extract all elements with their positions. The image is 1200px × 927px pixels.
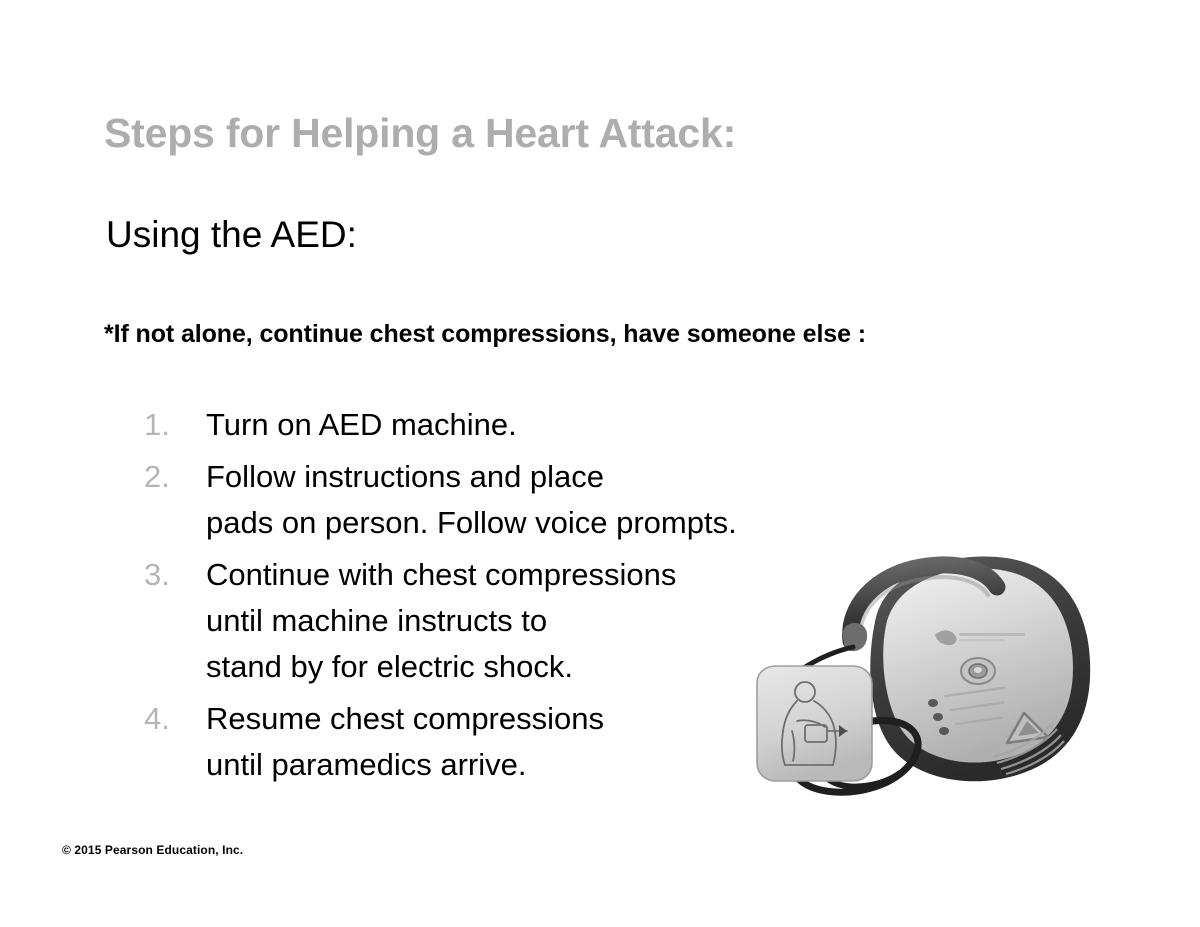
slide: Steps for Helping a Heart Attack: Using …	[0, 0, 1200, 927]
page-title: Steps for Helping a Heart Attack:	[104, 111, 1004, 156]
list-item: 1. Turn on AED machine.	[144, 402, 864, 448]
aed-electrode-pad	[757, 666, 872, 781]
aed-power-button	[961, 658, 995, 684]
list-item-number: 1.	[144, 402, 206, 448]
list-item-number: 2.	[144, 454, 206, 500]
copyright-notice: © 2015 Pearson Education, Inc.	[62, 843, 243, 857]
slide-subtitle: Using the AED:	[106, 214, 357, 257]
list-item-number: 4.	[144, 696, 206, 742]
note-text: *If not alone, continue chest compressio…	[104, 319, 866, 349]
list-item-number: 3.	[144, 552, 206, 598]
list-item-text: Turn on AED machine.	[206, 402, 864, 448]
aed-defibrillator-photo	[735, 525, 1100, 805]
